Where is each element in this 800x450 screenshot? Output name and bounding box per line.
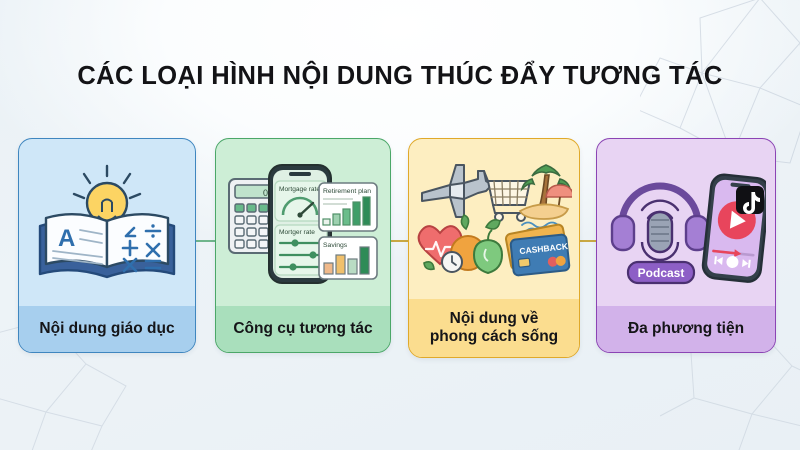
card-interactive-tools-label: Công cụ tương tác xyxy=(216,306,390,352)
connector-1-2 xyxy=(194,240,217,242)
card-multimedia-label: Đa phương tiện xyxy=(597,306,775,352)
card-educational-content[interactable]: A xyxy=(18,138,196,353)
lifestyle-collage-icon: CASHBACK xyxy=(416,157,572,281)
card-multimedia[interactable]: Podcast xyxy=(596,138,776,353)
page-title: CÁC LOẠI HÌNH NỘI DUNG THÚC ĐẨY TƯƠNG TÁ… xyxy=(0,62,800,91)
card-lifestyle-content[interactable]: CASHBACK Nội dung về phong cách sống xyxy=(408,138,580,358)
svg-text:Mortgage rates: Mortgage rates xyxy=(279,186,324,193)
microphone-icon xyxy=(642,212,678,268)
svg-text:Podcast: Podcast xyxy=(638,266,685,280)
card-row: A xyxy=(18,138,782,360)
podcast-badge: Podcast xyxy=(628,262,694,283)
card-educational-label: Nội dung giáo dục xyxy=(19,306,195,352)
infographic-canvas: CÁC LOẠI HÌNH NỘI DUNG THÚC ĐẨY TƯƠNG TÁ… xyxy=(0,0,800,450)
podcast-video-icon: Podcast xyxy=(606,158,766,288)
card-lifestyle-label: Nội dung về phong cách sống xyxy=(409,299,579,357)
credit-cards-icon: CASHBACK xyxy=(505,224,570,276)
svg-text:Mortger rate: Mortger rate xyxy=(279,229,315,236)
svg-text:Retirement plan: Retirement plan xyxy=(323,188,371,195)
tiktok-logo-icon xyxy=(736,186,764,214)
svg-text:Savings: Savings xyxy=(323,242,348,249)
card-interactive-tools[interactable]: 0 xyxy=(215,138,391,353)
card-lifestyle-artwork: CASHBACK xyxy=(409,139,579,299)
palm-island-umbrella-icon xyxy=(520,165,572,234)
connector-2-3 xyxy=(389,240,410,242)
calculator-phone-charts-icon: 0 xyxy=(223,155,383,290)
airplane-icon xyxy=(422,165,492,217)
svg-text:0: 0 xyxy=(263,188,268,198)
open-book-lightbulb-icon: A xyxy=(32,158,182,288)
connector-3-4 xyxy=(578,240,598,242)
card-multimedia-artwork: Podcast xyxy=(597,139,775,306)
card-lifestyle-label-line1: Nội dung về xyxy=(450,310,539,327)
card-educational-artwork: A xyxy=(19,139,195,306)
card-interactive-tools-artwork: 0 xyxy=(216,139,390,306)
retirement-plan-widget: Retirement plan xyxy=(319,183,377,231)
card-lifestyle-label-line2: phong cách sống xyxy=(430,328,558,345)
savings-widget: Savings xyxy=(319,237,377,279)
letter-a-glyph: A xyxy=(58,225,75,252)
